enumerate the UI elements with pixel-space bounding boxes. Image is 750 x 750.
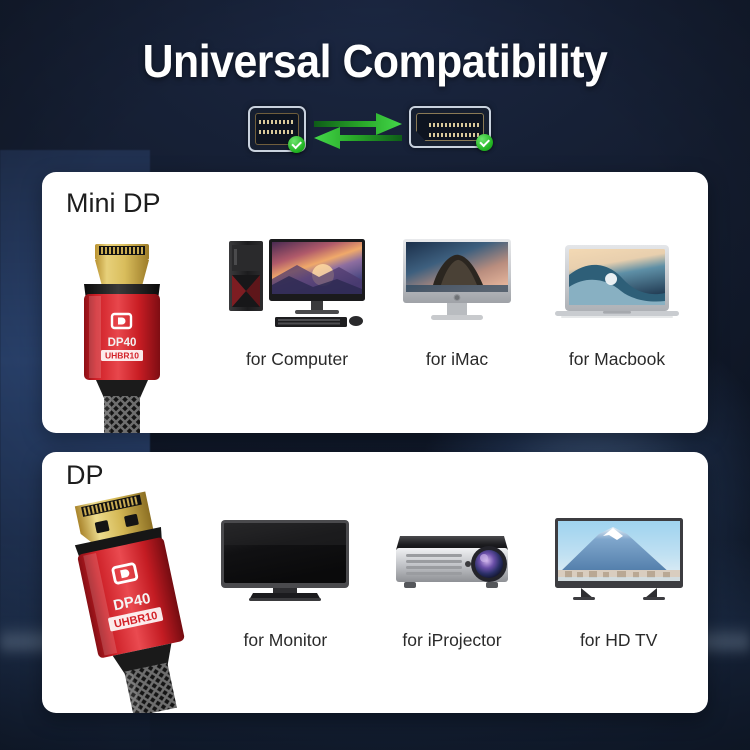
device-item: for HD TV xyxy=(535,504,702,651)
device-list-dp: for Monitor xyxy=(202,504,702,651)
device-label: for iProjector xyxy=(402,630,501,651)
mini-dp-cable-image: DP40 UHBR10 xyxy=(62,242,182,433)
device-list-mini-dp: for Computer xyxy=(217,227,697,370)
cable-spec-text: UHBR10 xyxy=(105,351,139,361)
desktop-computer-icon xyxy=(227,227,367,339)
device-label: for Monitor xyxy=(244,630,328,651)
device-item: for iMac xyxy=(377,227,537,370)
port-pin-row xyxy=(259,130,295,134)
monitor-icon xyxy=(217,504,353,616)
imac-icon xyxy=(397,227,517,339)
device-label: for HD TV xyxy=(580,630,657,651)
port-pin-row xyxy=(429,123,480,127)
hdtv-icon xyxy=(551,504,687,616)
dp-cable-image: DP40 UHBR10 xyxy=(60,490,210,713)
displayport-port-cavity xyxy=(416,113,484,141)
device-label: for Macbook xyxy=(569,349,665,370)
port-pin-row xyxy=(259,120,295,124)
device-label: for iMac xyxy=(426,349,488,370)
device-item: for Monitor xyxy=(202,504,369,651)
card-title: Mini DP xyxy=(66,188,161,219)
bidirectional-arrows-icon xyxy=(312,108,404,150)
cable-model-text: DP40 xyxy=(108,337,137,349)
device-item: for Macbook xyxy=(537,227,697,370)
card-mini-dp: Mini DP xyxy=(42,172,708,433)
device-item: for Computer xyxy=(217,227,377,370)
compatibility-diagram xyxy=(0,100,750,160)
card-dp: DP xyxy=(42,452,708,713)
green-check-icon xyxy=(288,136,305,153)
page-title: Universal Compatibility xyxy=(26,34,724,88)
device-item: for iProjector xyxy=(369,504,536,651)
macbook-icon xyxy=(551,227,683,339)
device-label: for Computer xyxy=(246,349,348,370)
card-title: DP xyxy=(66,460,104,491)
green-check-icon xyxy=(476,134,493,151)
port-pin-row xyxy=(429,133,480,137)
infographic-stage: Universal Compatibility xyxy=(0,0,750,750)
projector-icon xyxy=(388,504,516,616)
